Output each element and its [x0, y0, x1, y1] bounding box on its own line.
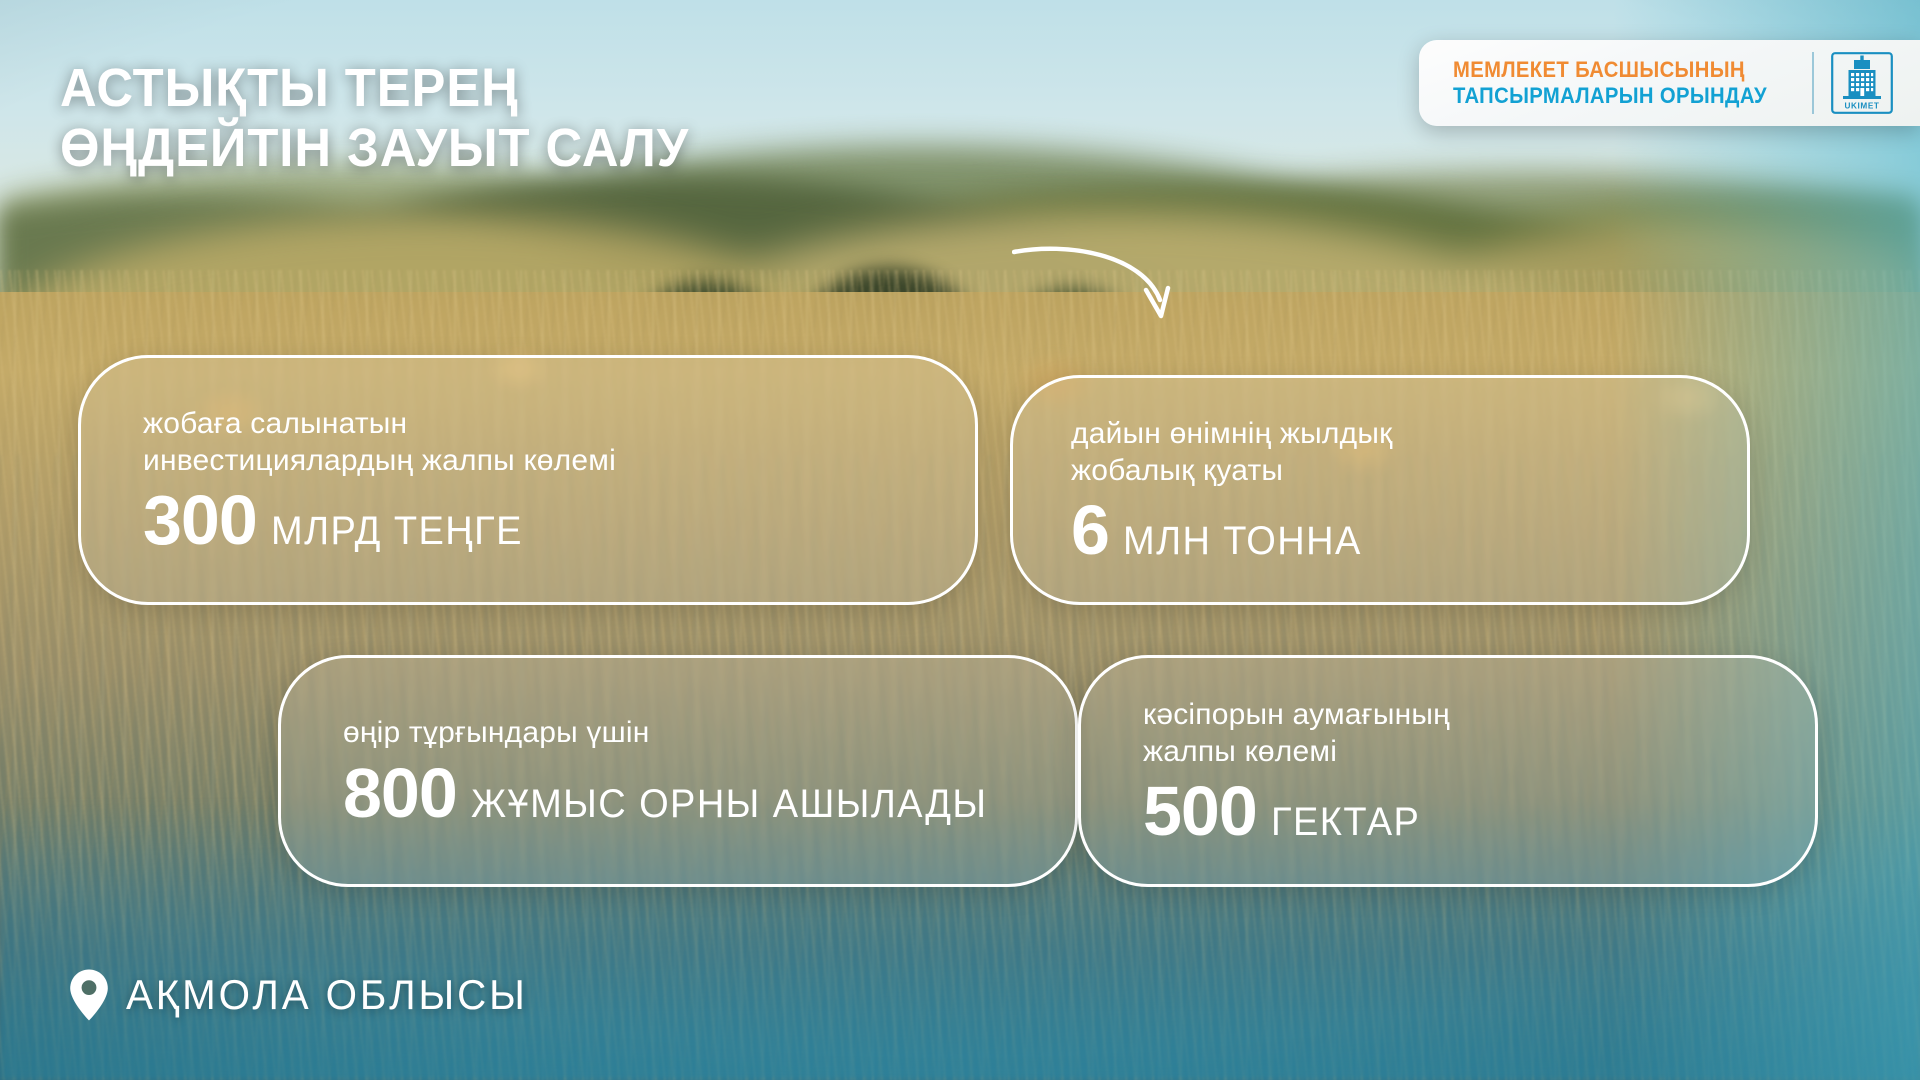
card-value: 500 [1143, 778, 1257, 845]
ukimet-logo-icon: UKIMET [1830, 51, 1894, 115]
ukimet-logo-label: UKIMET [1845, 102, 1880, 111]
card-unit: МЛН ТОННА [1123, 519, 1362, 564]
card-lead-line-2: жалпы көлемі [1143, 734, 1815, 771]
card-lead-line-2: инвестициялардың жалпы көлемі [143, 443, 975, 480]
location-block: АҚМОЛА ОБЛЫСЫ [68, 968, 544, 1022]
card-annual-capacity: дайын өнімнің жылдық жобалық қуаты 6 МЛН… [1010, 375, 1750, 605]
card-lead-line-1: дайын өнімнің жылдық [1071, 416, 1747, 453]
card-lead-text: кәсіпорын аумағының жалпы көлемі [1143, 697, 1815, 770]
card-unit: ЖҰМЫС ОРНЫ АШЫЛАДЫ [471, 782, 987, 827]
card-total-investment: жобаға салынатын инвестициялардың жалпы … [78, 355, 978, 605]
badge-text: МЕМЛЕКЕТ БАСШЫСЫНЫҢ ТАПСЫРМАЛАРЫН ОРЫНДА… [1453, 57, 1794, 108]
page-title: АСТЫҚТЫ ТЕРЕҢ ӨҢДЕЙТІН ЗАУЫТ САЛУ [60, 58, 729, 179]
card-value-row: 300 МЛРД ТЕҢГЕ [143, 487, 975, 554]
curved-arrow-icon [1012, 246, 1182, 361]
card-value: 6 [1071, 497, 1109, 564]
card-lead-line-2: жобалық қуаты [1071, 453, 1747, 490]
government-tasks-badge: МЕМЛЕКЕТ БАСШЫСЫНЫҢ ТАПСЫРМАЛАРЫН ОРЫНДА… [1419, 40, 1920, 126]
card-value: 800 [343, 760, 457, 827]
badge-line-1: МЕМЛЕКЕТ БАСШЫСЫНЫҢ [1453, 57, 1767, 83]
card-value: 300 [143, 487, 257, 554]
badge-divider [1812, 52, 1814, 114]
card-lead-text: дайын өнімнің жылдық жобалық қуаты [1071, 416, 1747, 489]
card-value-row: 800 ЖҰМЫС ОРНЫ АШЫЛАДЫ [343, 760, 1075, 827]
card-lead-line-1: жобаға салынатын [143, 406, 975, 443]
card-unit: МЛРД ТЕҢГЕ [271, 509, 523, 554]
badge-line-2: ТАПСЫРМАЛАРЫН ОРЫНДАУ [1453, 83, 1767, 109]
card-value-row: 500 ГЕКТАР [1143, 778, 1815, 845]
map-pin-icon [68, 968, 110, 1022]
card-lead-text: өңір тұрғындары үшін [343, 715, 1075, 752]
card-lead-line-1: кәсіпорын аумағының [1143, 697, 1815, 734]
location-label: АҚМОЛА ОБЛЫСЫ [126, 971, 528, 1019]
card-jobs-created: өңір тұрғындары үшін 800 ЖҰМЫС ОРНЫ АШЫЛ… [278, 655, 1078, 887]
card-unit: ГЕКТАР [1271, 800, 1420, 845]
card-value-row: 6 МЛН ТОННА [1071, 497, 1747, 564]
title-line-2: ӨҢДЕЙТІН ЗАУЫТ САЛУ [60, 118, 689, 178]
card-site-area: кәсіпорын аумағының жалпы көлемі 500 ГЕК… [1078, 655, 1818, 887]
title-line-1: АСТЫҚТЫ ТЕРЕҢ [60, 58, 689, 118]
card-lead-text: жобаға салынатын инвестициялардың жалпы … [143, 406, 975, 479]
card-lead-line-1: өңір тұрғындары үшін [343, 715, 1075, 752]
